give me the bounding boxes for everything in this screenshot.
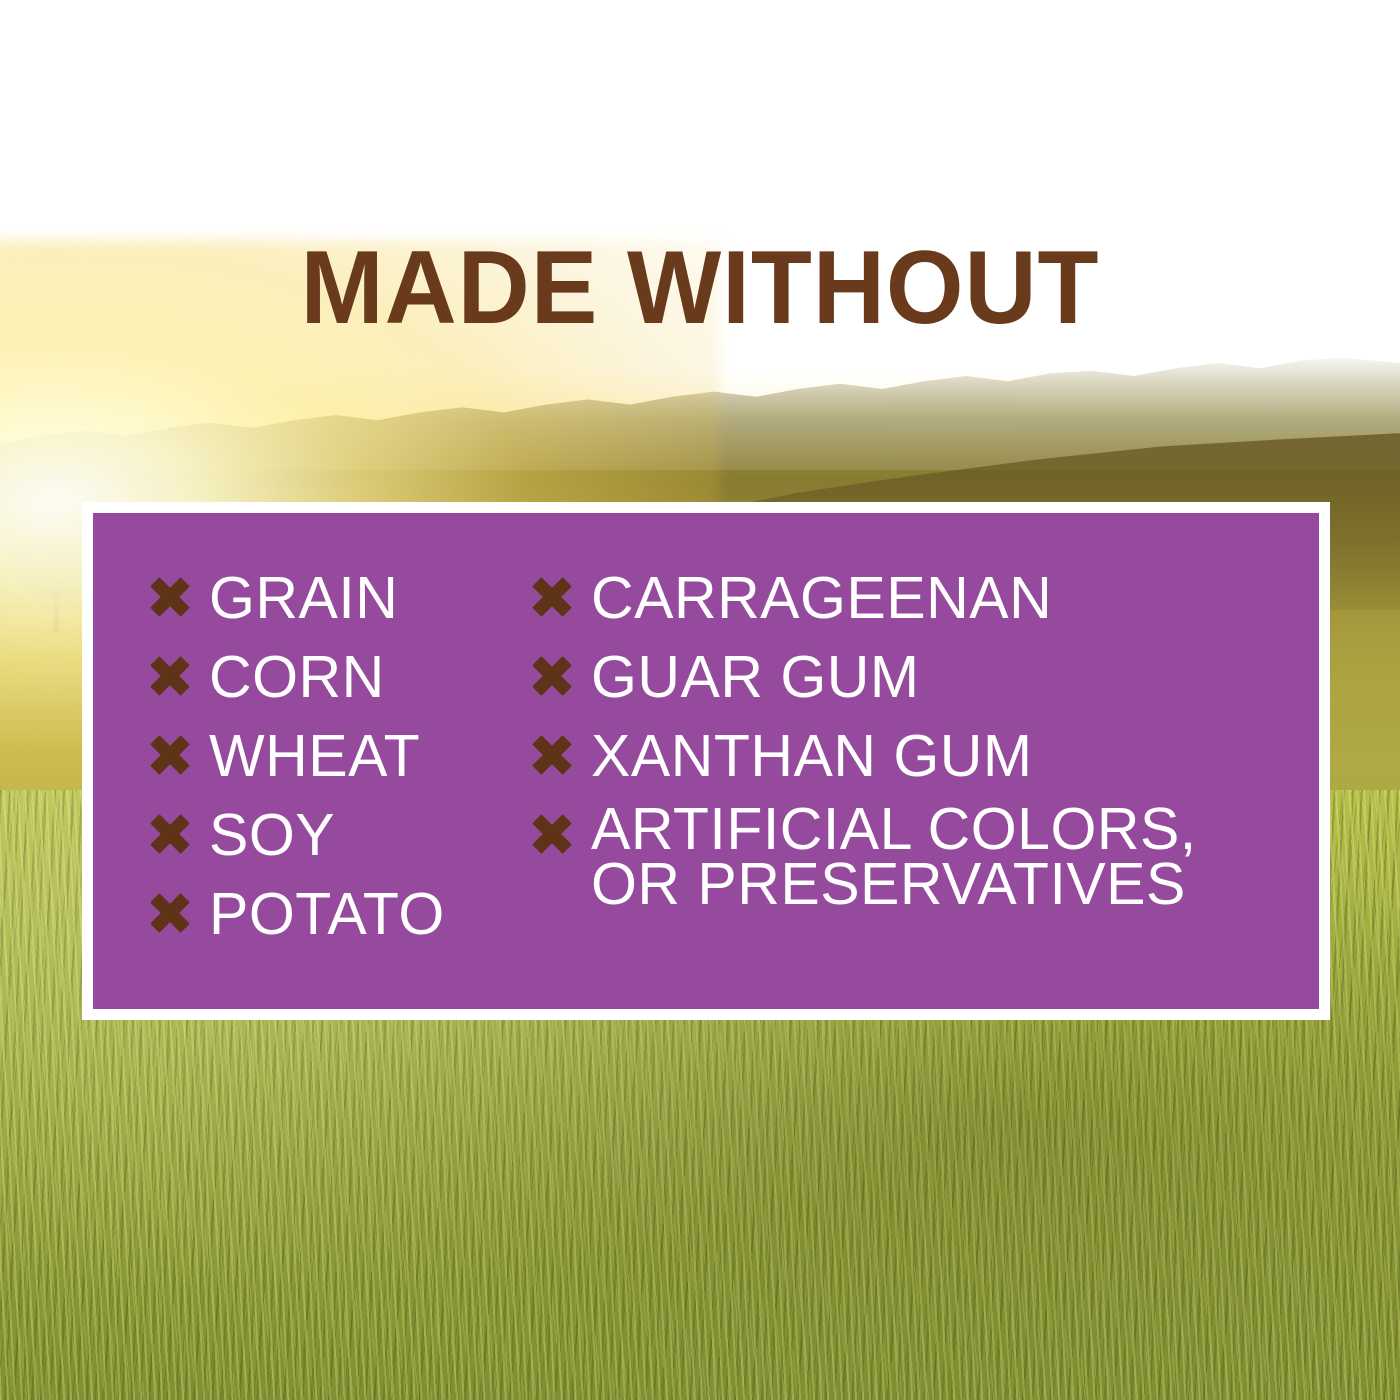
list-item-label: GUAR GUM (591, 648, 920, 706)
panel-body: GRAIN CORN WHEAT SOY (93, 513, 1319, 1009)
made-without-panel: GRAIN CORN WHEAT SOY (82, 502, 1330, 1020)
list-item: POTATO (149, 885, 445, 964)
x-mark-icon (149, 813, 191, 855)
x-mark-icon (149, 734, 191, 776)
page-title: MADE WITHOUT (28, 236, 1372, 340)
made-without-graphic: MADE WITHOUT GRAIN CORN WHEAT (0, 0, 1400, 1400)
list-item: GUAR GUM (531, 648, 1197, 727)
list-item-label: POTATO (209, 885, 445, 943)
list-item-label: GRAIN (209, 569, 398, 627)
exclusion-column-right: CARRAGEENAN GUAR GUM XANTHAN GUM ARTIFIC… (531, 569, 1197, 885)
list-item: WHEAT (149, 727, 445, 806)
list-item: CORN (149, 648, 445, 727)
x-mark-icon (531, 576, 573, 618)
list-item-label: CORN (209, 648, 385, 706)
exclusion-column-left: GRAIN CORN WHEAT SOY (149, 569, 445, 964)
list-item-label: CARRAGEENAN (591, 569, 1052, 627)
list-item: GRAIN (149, 569, 445, 648)
list-item: ARTIFICIAL COLORS, OR PRESERVATIVES (531, 806, 1197, 885)
list-item-label: WHEAT (209, 727, 420, 785)
x-mark-icon (149, 655, 191, 697)
list-item-label: SOY (209, 806, 335, 864)
list-item-label: XANTHAN GUM (591, 727, 1032, 785)
list-item-label: ARTIFICIAL COLORS, OR PRESERVATIVES (591, 802, 1197, 912)
x-mark-icon (531, 813, 573, 855)
exclusion-list: GRAIN CORN WHEAT SOY (93, 513, 1319, 1009)
x-mark-icon (149, 892, 191, 934)
x-mark-icon (531, 734, 573, 776)
list-item: CARRAGEENAN (531, 569, 1197, 648)
x-mark-icon (531, 655, 573, 697)
list-item: SOY (149, 806, 445, 885)
x-mark-icon (149, 576, 191, 618)
list-item: XANTHAN GUM (531, 727, 1197, 806)
